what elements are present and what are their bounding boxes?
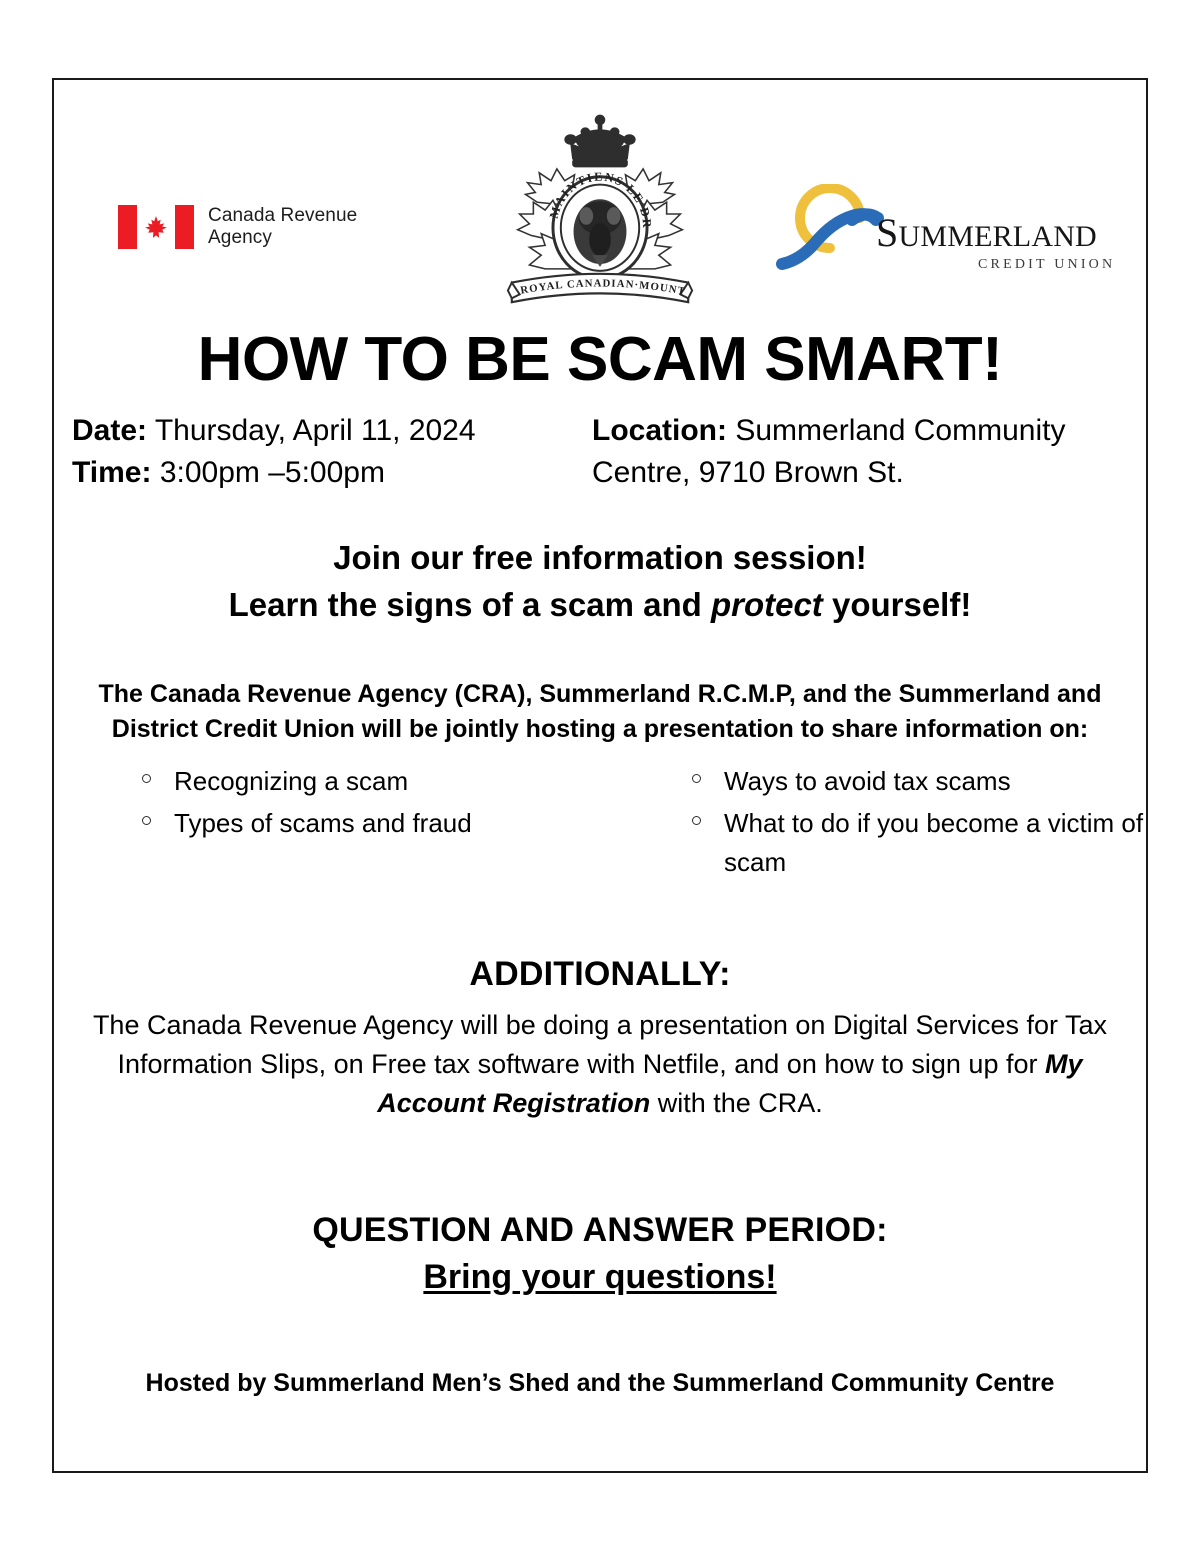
bullet-circle-icon [142,816,151,825]
event-details-left: Date: Thursday, April 11, 2024 Time: 3:0… [72,410,592,493]
session-line2-before: Learn the signs of a scam and [229,586,711,623]
summerland-wordmark: SUMMERLAND [876,210,1097,255]
additionally-text-after: with the CRA. [650,1088,823,1118]
credit-union-wordmark: CREDIT UNION [978,257,1115,272]
list-item: Ways to avoid tax scams [690,762,1178,800]
event-date-value: Thursday, April 11, 2024 [155,414,476,447]
qa-subheading-text: Bring your questions! [423,1258,776,1296]
additionally-text-before: The Canada Revenue Agency will be doing … [93,1010,1107,1079]
event-details: Date: Thursday, April 11, 2024 Time: 3:0… [54,410,1146,493]
qa-subheading: Bring your questions! [54,1258,1146,1297]
agencies-paragraph: The Canada Revenue Agency (CRA), Summerl… [54,677,1146,748]
canada-flag-icon [118,205,194,249]
session-headline-line-2: Learn the signs of a scam and protect yo… [54,582,1146,629]
qa-heading: QUESTION AND ANSWER PERIOD: [54,1211,1146,1250]
event-time-value: 3:00pm –5:00pm [160,456,385,489]
topics-column-right: Ways to avoid tax scams What to do if yo… [628,762,1178,885]
session-headline-line-1: Join our free information session! [54,535,1146,582]
logo-band: Canada Revenue Agency [54,80,1146,330]
topics-list: Recognizing a scam Types of scams and fr… [54,762,1146,885]
event-location-label: Location: [592,414,727,447]
additionally-paragraph: The Canada Revenue Agency will be doing … [54,1006,1146,1123]
list-item-label: Recognizing a scam [174,766,408,796]
additionally-heading: ADDITIONALLY: [54,955,1146,994]
event-time-line: Time: 3:00pm –5:00pm [72,452,592,493]
list-item: Recognizing a scam [140,762,628,800]
cra-wordmark: Canada Revenue Agency [208,205,357,250]
event-date-line: Date: Thursday, April 11, 2024 [72,410,592,451]
bullet-circle-icon [692,816,701,825]
session-line2-after: yourself! [823,586,972,623]
list-item-label: Ways to avoid tax scams [724,766,1011,796]
flyer-content: Canada Revenue Agency [54,80,1146,1471]
list-item: Types of scams and fraud [140,804,628,842]
session-line2-emphasis: protect [711,586,823,623]
session-headline: Join our free information session! Learn… [54,535,1146,629]
list-item: What to do if you become a victim of sca… [690,804,1178,881]
flyer-page: Canada Revenue Agency [0,0,1200,1552]
canada-revenue-agency-logo: Canada Revenue Agency [118,205,357,250]
event-location-line: Location: Summerland Community Centre, 9… [592,410,1132,493]
host-credit: Hosted by Summerland Men’s Shed and the … [54,1369,1146,1398]
summerland-credit-union-logo: SUMMERLAND CREDIT UNION [766,184,1118,278]
rcmp-crest: MAINTIENS LE DROIT [502,108,698,320]
list-item-label: What to do if you become a victim of sca… [724,808,1143,876]
event-date-label: Date: [72,414,147,447]
bullet-circle-icon [142,774,151,783]
bullet-circle-icon [692,774,701,783]
event-time-label: Time: [72,456,151,489]
topics-column-left: Recognizing a scam Types of scams and fr… [140,762,628,885]
list-item-label: Types of scams and fraud [174,808,472,838]
event-details-right: Location: Summerland Community Centre, 9… [592,410,1132,493]
page-title: HOW TO BE SCAM SMART! [54,328,1146,392]
